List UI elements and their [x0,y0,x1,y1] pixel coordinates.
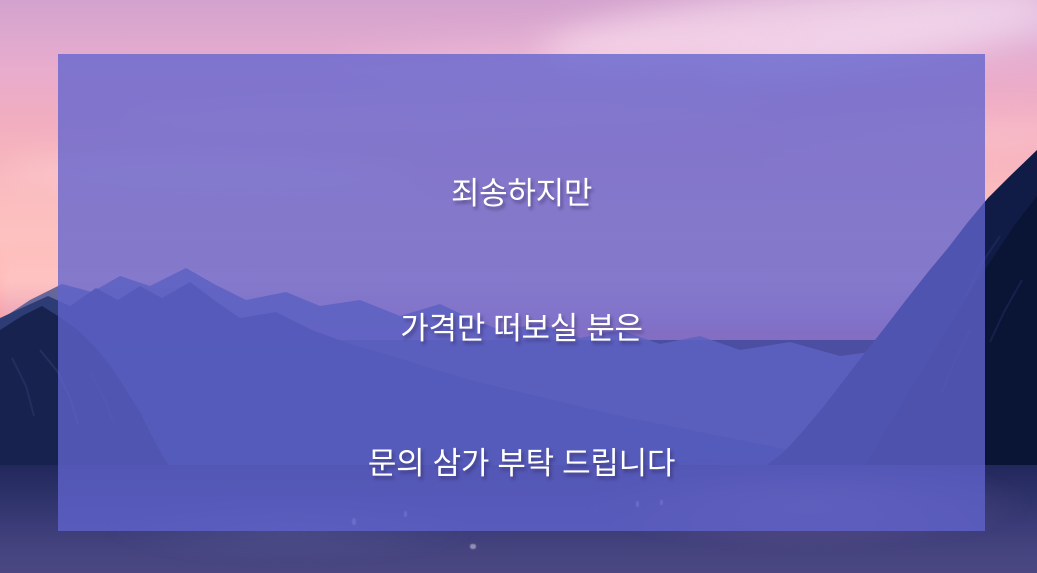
notice-line-1: 죄송하지만 [368,172,675,217]
overlay-panel: 죄송하지만 가격만 떠보실 분은 문의 삼가 부탁 드립니다 사업의지가 있으신… [58,54,985,531]
notice-line-2: 가격만 떠보실 분은 [368,307,675,352]
notice-text-block: 죄송하지만 가격만 떠보실 분은 문의 삼가 부탁 드립니다 [368,82,675,573]
banner-stage: 죄송하지만 가격만 떠보실 분은 문의 삼가 부탁 드립니다 사업의지가 있으신… [0,0,1037,573]
notice-line-3: 문의 삼가 부탁 드립니다 [368,442,675,487]
